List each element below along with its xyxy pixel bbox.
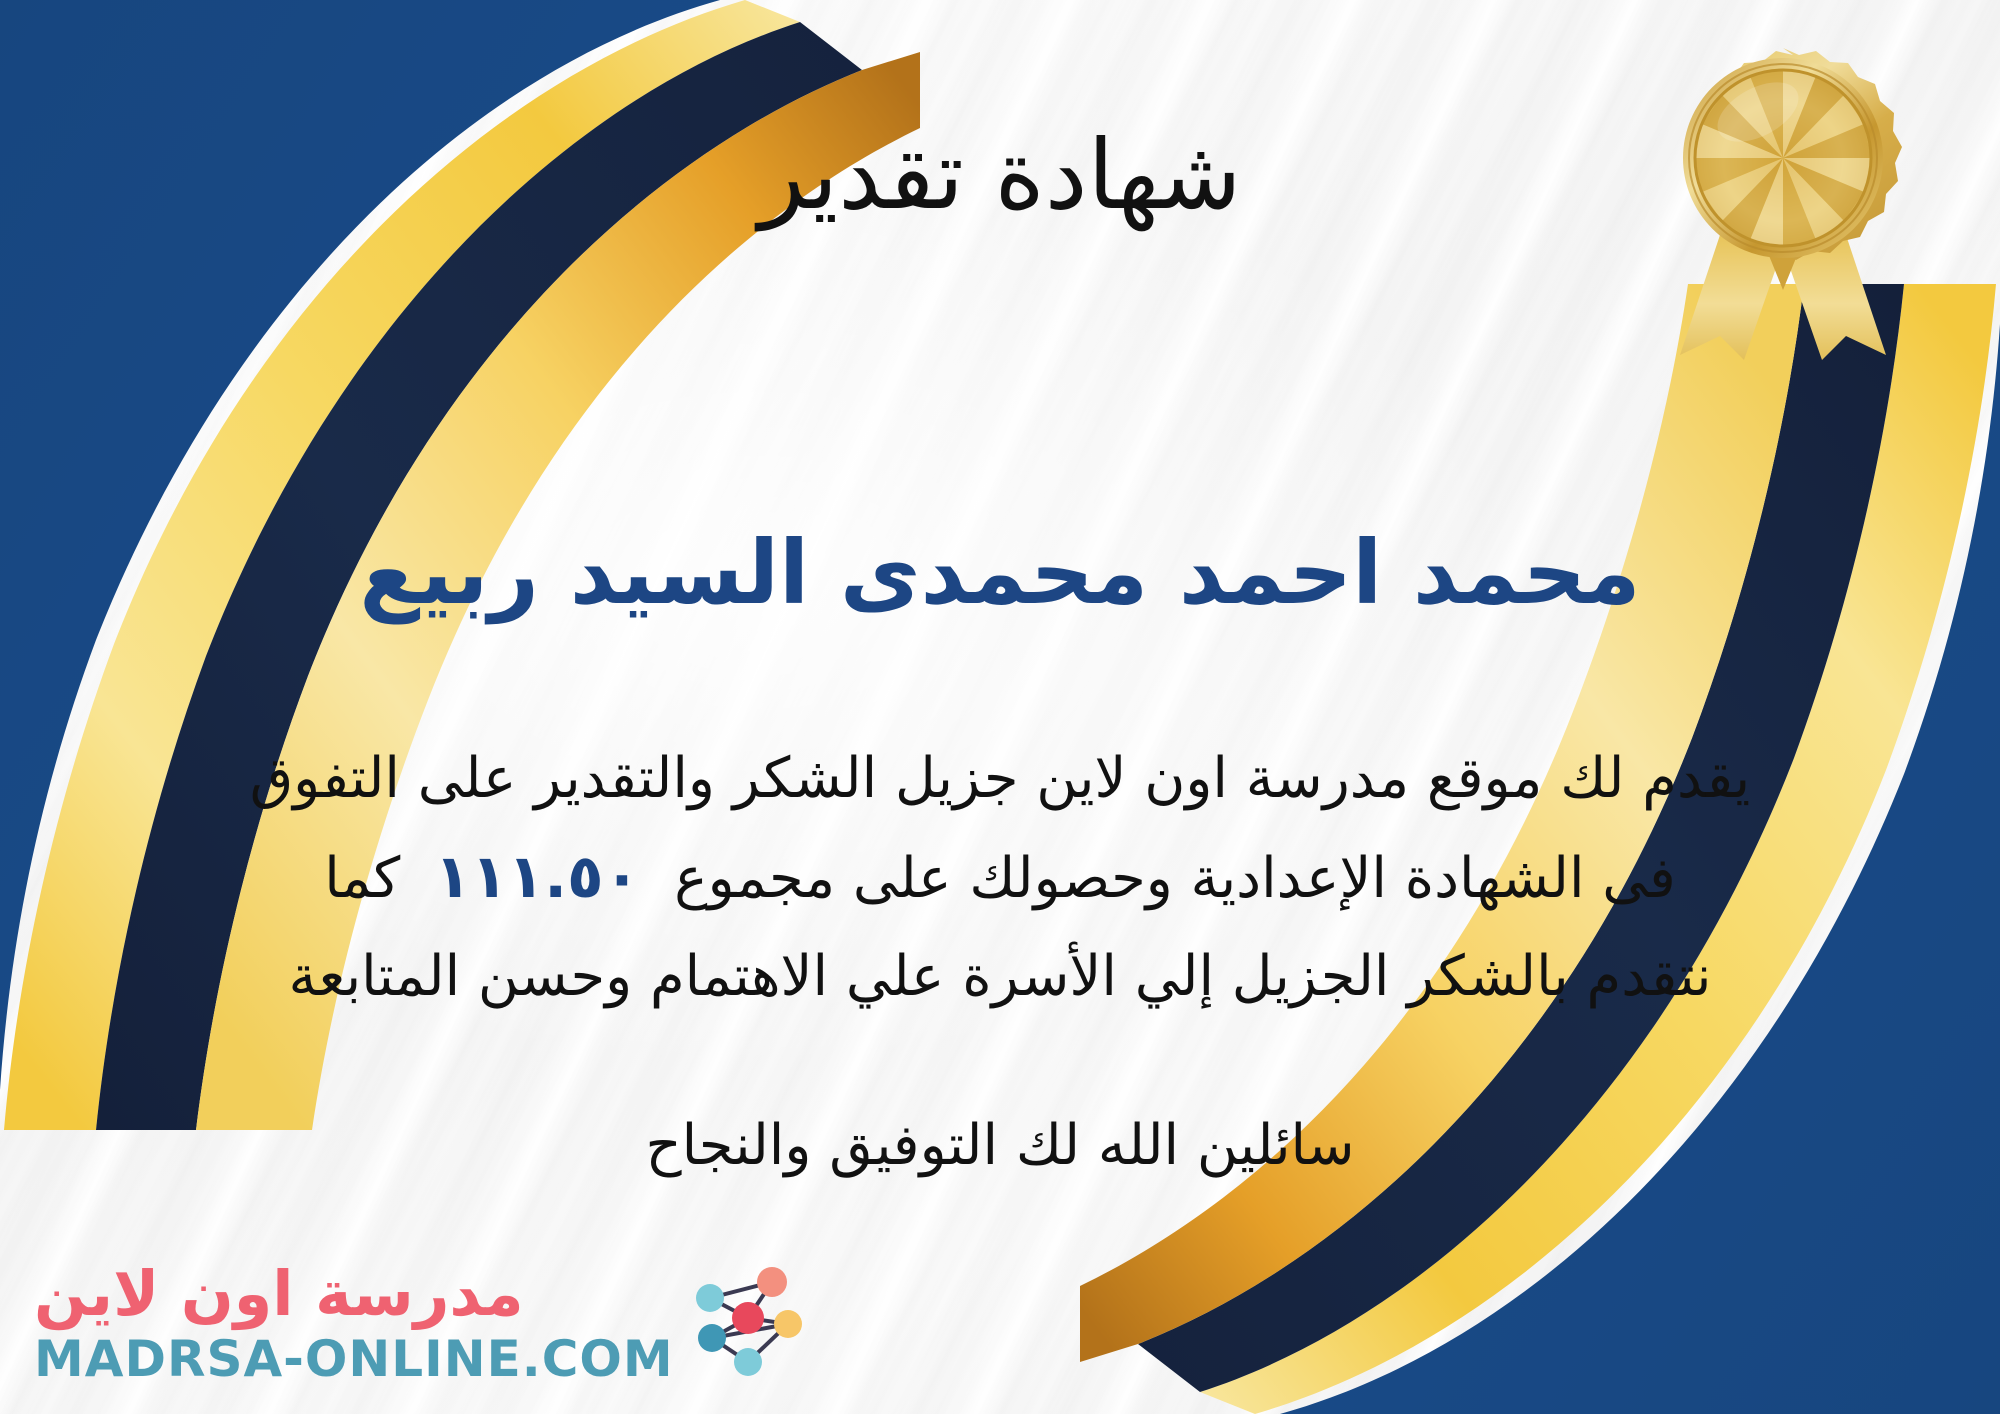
recipient-name: محمد احمد محمدى السيد ربيع — [0, 520, 2000, 626]
certificate-body: يقدم لك موقع مدرسة اون لاين جزيل الشكر و… — [60, 730, 1940, 1026]
certificate-title: شهادة تقدير — [0, 122, 2000, 230]
logo-text-block: مدرسة اون لاين MADRSA-ONLINE.COM — [34, 1263, 674, 1387]
body-line-3: نتقدم بالشكر الجزيل إلي الأسرة علي الاهت… — [60, 928, 1940, 1026]
network-node-coral — [757, 1267, 787, 1297]
network-node-red — [732, 1302, 764, 1334]
body-line-1: يقدم لك موقع مدرسة اون لاين جزيل الشكر و… — [60, 730, 1940, 828]
network-node-light-blue-2 — [734, 1348, 762, 1376]
certificate-canvas: شهادة تقدير محمد احمد محمدى السيد ربيع ي… — [0, 0, 2000, 1414]
body-line-2-suffix: كما — [324, 846, 400, 911]
certificate-content: شهادة تقدير محمد احمد محمدى السيد ربيع ي… — [0, 0, 2000, 1414]
grade-value: ١١١.٥٠ — [400, 842, 674, 912]
network-node-light-blue — [696, 1284, 724, 1312]
network-nodes-icon — [684, 1262, 804, 1382]
logo-arabic-name: مدرسة اون لاين — [34, 1263, 524, 1325]
network-node-yellow — [774, 1310, 802, 1338]
network-node-teal — [698, 1324, 726, 1352]
logo-domain: MADRSA-ONLINE.COM — [34, 1331, 674, 1387]
body-line-2-prefix: فى الشهادة الإعدادية وحصولك على مجموع — [674, 846, 1676, 911]
body-line-2: فى الشهادة الإعدادية وحصولك على مجموع١١١… — [60, 828, 1940, 928]
site-logo[interactable]: مدرسة اون لاين MADRSA-ONLINE.COM — [34, 1262, 804, 1388]
closing-line: سائلين الله لك التوفيق والنجاح — [0, 1112, 2000, 1179]
